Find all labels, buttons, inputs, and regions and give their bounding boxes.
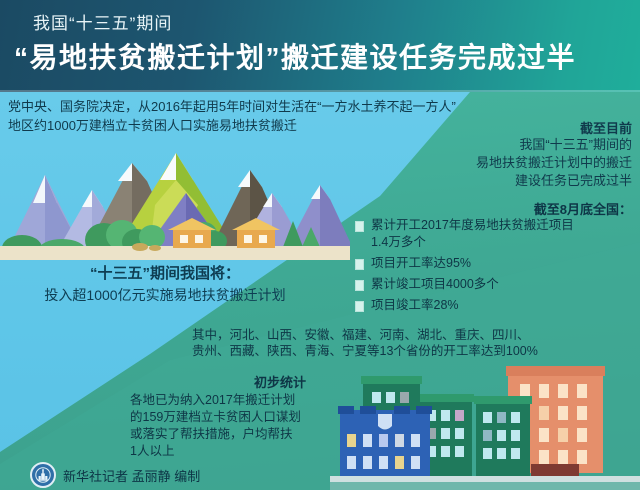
city-scene-svg	[330, 358, 640, 490]
bullet-continuation: 1.4万多个	[371, 234, 574, 251]
page-title: “易地扶贫搬迁计划”搬迁建设任务完成过半	[14, 36, 576, 76]
bullet-main: 累计开工2017年度易地扶贫搬迁项目	[371, 218, 574, 232]
credit-line: 新华社记者 孟丽静 编制	[30, 462, 200, 488]
bullet-text: 项目开工率达95%	[371, 255, 471, 272]
bullet-text: 项目竣工率28%	[371, 297, 459, 314]
provinces-paragraph: 其中，河北、山西、安徽、福建、河南、湖北、重庆、四川、 贵州、西藏、陕西、青海、…	[192, 327, 632, 359]
bullet-square-icon	[355, 221, 364, 232]
right-heading-august: 截至8月底全国：	[352, 199, 632, 218]
bullet-square-icon	[355, 280, 364, 291]
right-heading-as-of-now: 截至目前	[352, 118, 632, 137]
list-item: 累计开工2017年度易地扶贫搬迁项目 1.4万多个	[355, 217, 640, 251]
infographic-canvas: 我国“十三五”期间 “易地扶贫搬迁计划”搬迁建设任务完成过半	[0, 0, 640, 490]
middle-line: 投入超1000亿元实施易地扶贫搬迁计划	[0, 285, 330, 305]
xinhua-logo-icon	[30, 462, 56, 488]
credit-text: 新华社记者 孟丽静 编制	[63, 466, 200, 485]
provinces-line-2: 贵州、西藏、陕西、青海、宁夏等13个省份的开工率达到100%	[192, 343, 632, 359]
mountain-village-illustration	[0, 135, 350, 260]
right-body-line-2: 易地扶贫搬迁计划中的搬迁	[352, 154, 632, 172]
bullet-square-icon	[355, 259, 364, 270]
list-item: 项目开工率达95%	[355, 255, 640, 272]
list-item: 项目竣工率28%	[355, 297, 640, 314]
right-body-line-3: 建设任务已完成过半	[352, 172, 632, 190]
header-banner: 我国“十三五”期间 “易地扶贫搬迁计划”搬迁建设任务完成过半	[0, 0, 640, 92]
bullet-text: 累计竣工项目4000多个	[371, 276, 499, 293]
mountain-scene-svg	[0, 135, 350, 260]
lead-line-1: 党中央、国务院决定，从2016年起用5年时间对生活在“一方水土养不起一方人”	[8, 97, 538, 116]
city-buildings-illustration	[330, 358, 640, 490]
header-kicker: 我国“十三五”期间	[33, 9, 172, 34]
bullet-square-icon	[355, 301, 364, 312]
right-body-line-1: 我国“十三五”期间的	[352, 136, 632, 154]
list-item: 累计竣工项目4000多个	[355, 276, 640, 293]
middle-heading: “十三五”期间我国将：	[0, 262, 330, 283]
provinces-line-1: 其中，河北、山西、安徽、福建、河南、湖北、重庆、四川、	[192, 327, 632, 343]
xinhua-glyph	[35, 467, 51, 483]
bullet-list: 累计开工2017年度易地扶贫搬迁项目 1.4万多个 项目开工率达95% 累计竣工…	[355, 217, 640, 318]
right-body-as-of-now: 我国“十三五”期间的 易地扶贫搬迁计划中的搬迁 建设任务已完成过半	[352, 136, 632, 190]
bullet-text: 累计开工2017年度易地扶贫搬迁项目 1.4万多个	[371, 217, 574, 251]
